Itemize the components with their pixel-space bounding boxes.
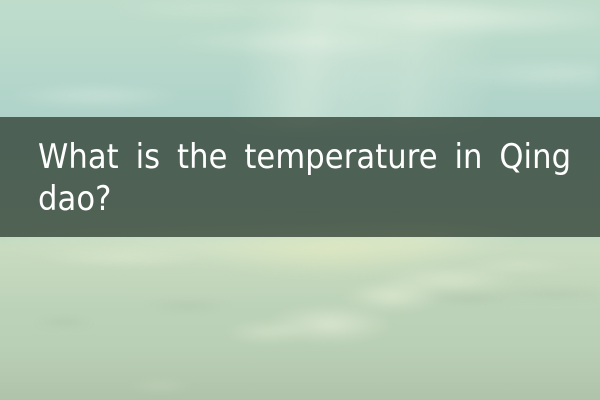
sky-clouds-layer xyxy=(0,0,600,130)
water-reflection-layer xyxy=(0,236,600,400)
caption-banner: What is the temperature in Qing dao? xyxy=(0,117,600,237)
caption-question-text: What is the temperature in Qing dao? xyxy=(38,136,572,220)
screenshot-canvas: What is the temperature in Qing dao? xyxy=(0,0,600,400)
